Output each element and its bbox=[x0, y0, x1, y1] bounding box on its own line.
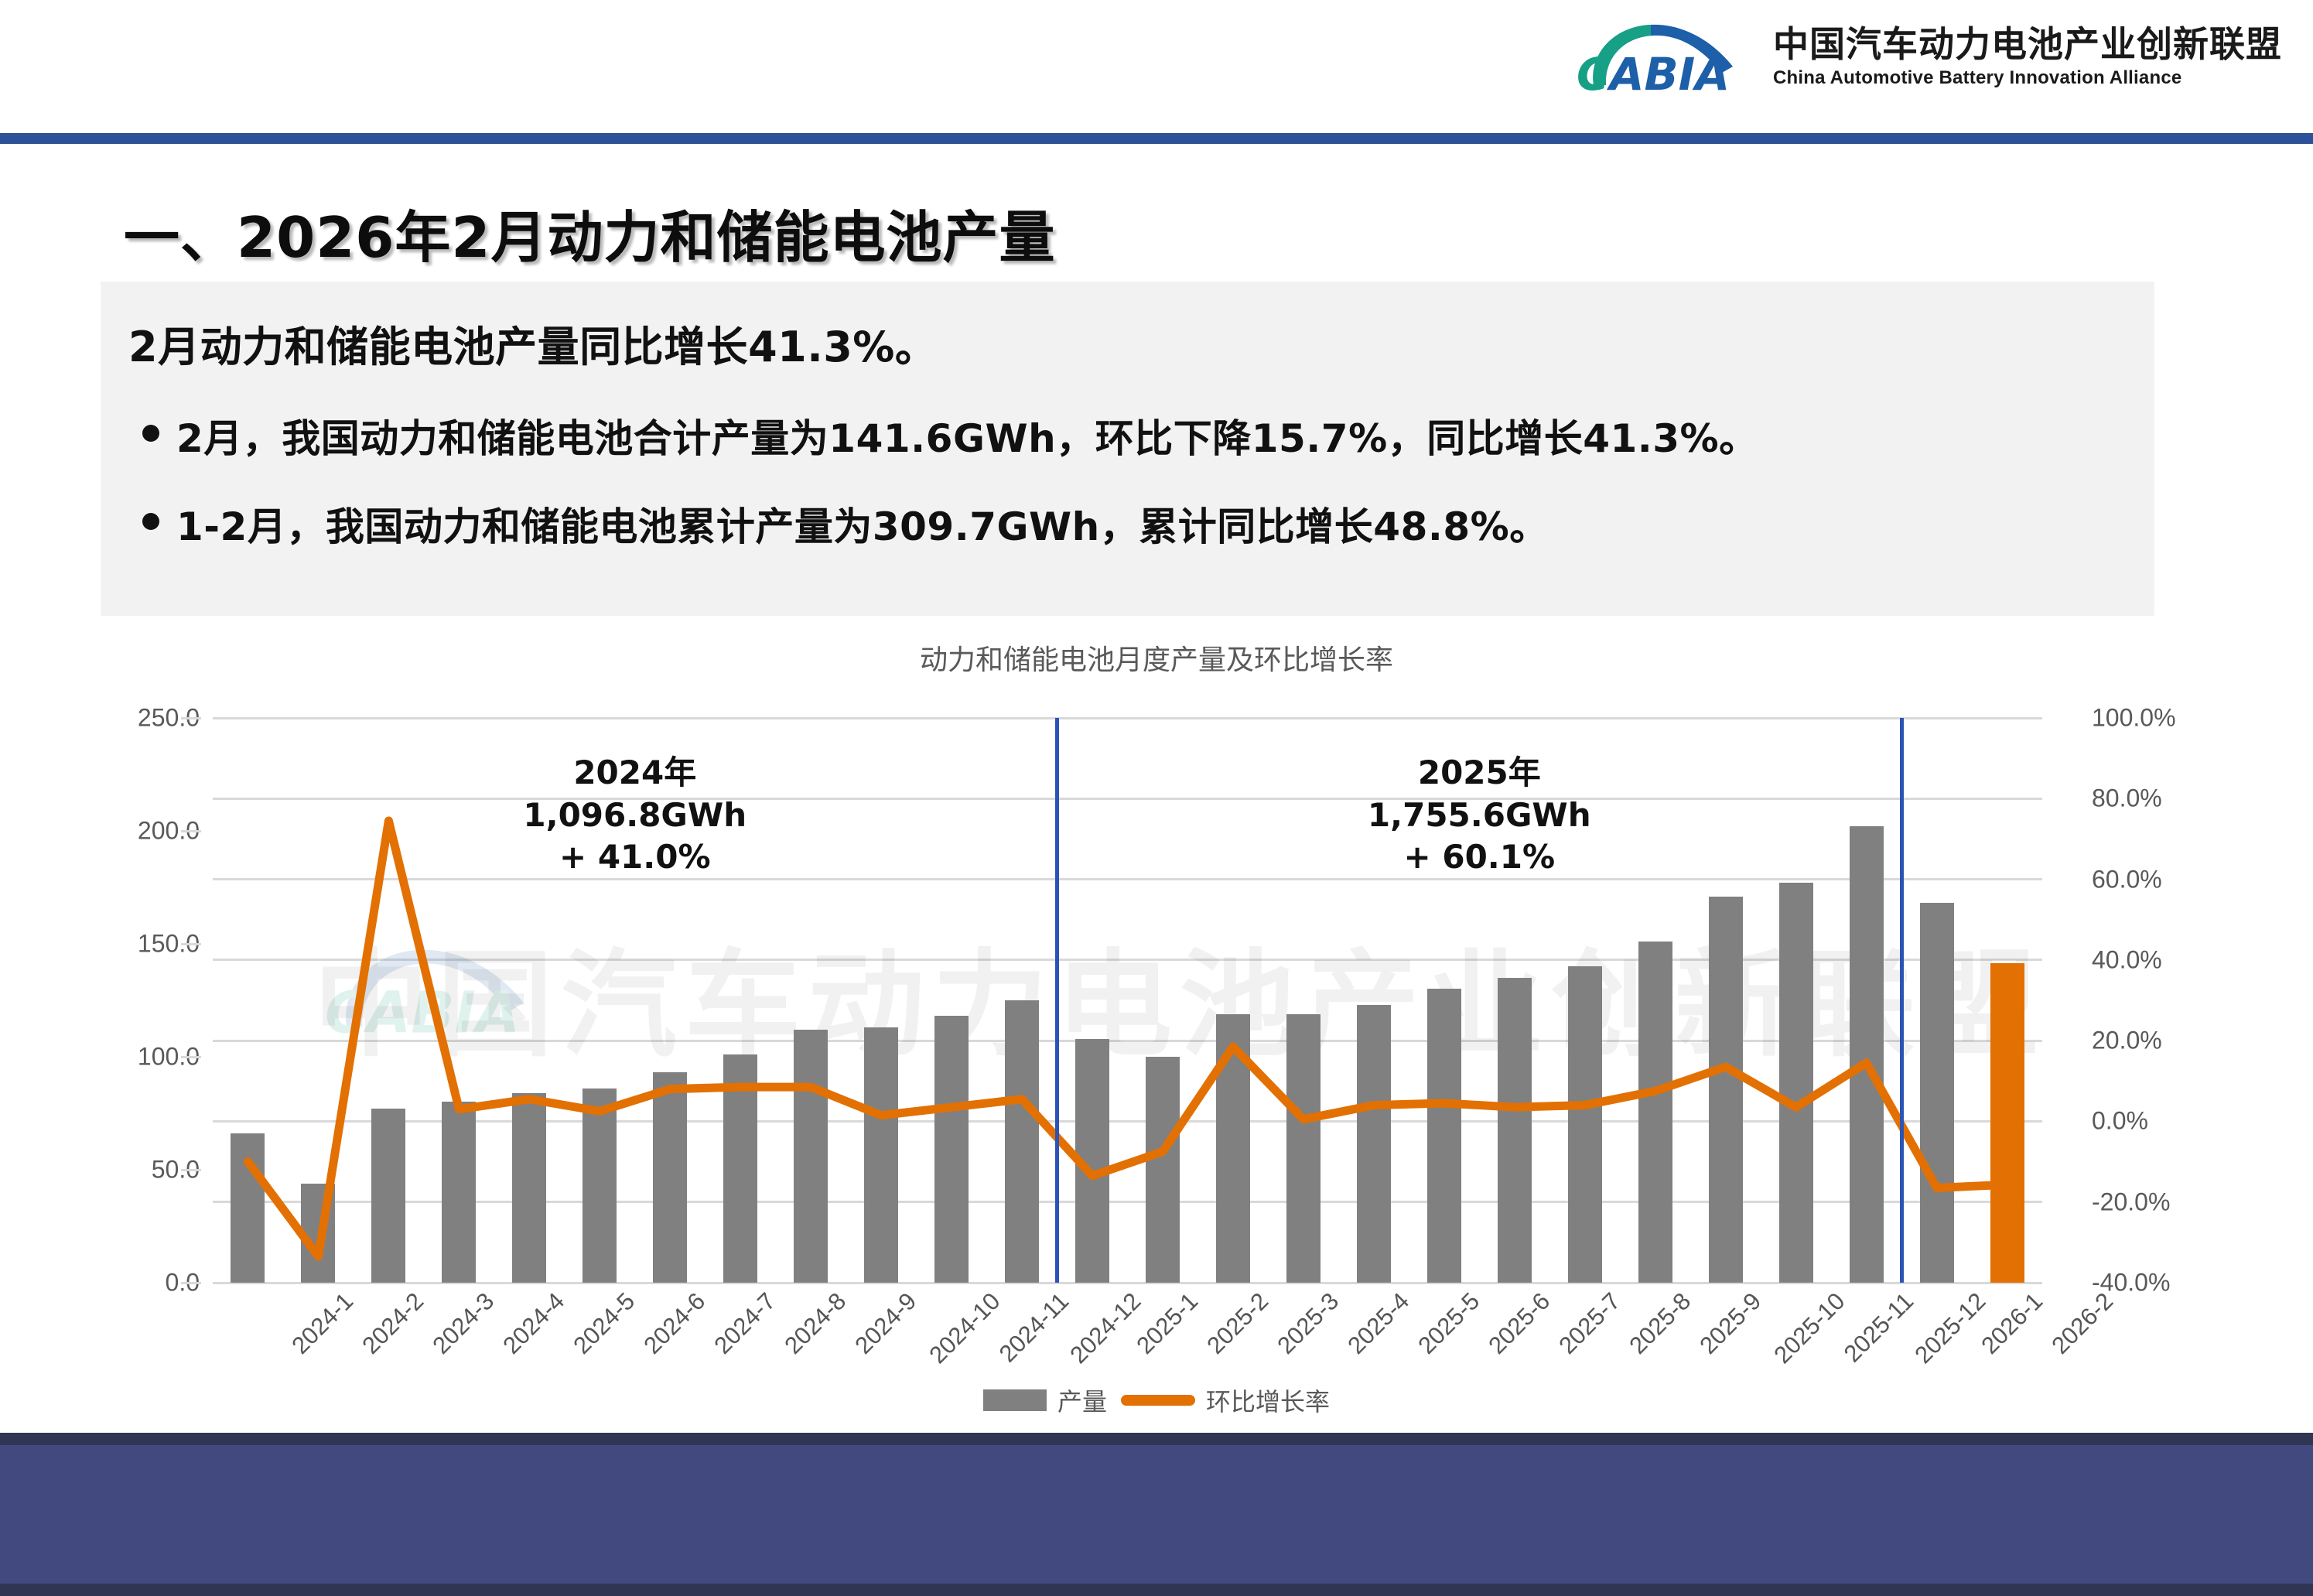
x-axis-label: 2025-9 bbox=[1694, 1287, 1767, 1360]
x-axis-label: 2024-3 bbox=[428, 1287, 501, 1360]
x-axis-label: 2025-2 bbox=[1201, 1287, 1274, 1360]
header-divider bbox=[0, 133, 2313, 144]
x-axis-label: 2025-3 bbox=[1272, 1287, 1344, 1360]
page-header: CABIA 中国汽车动力电池产业创新联盟 China Automotive Ba… bbox=[0, 0, 2313, 124]
plot-region: CABIA 中国汽车动力电池产业创新联盟 2024年1,096.8GWh+ 41… bbox=[213, 718, 2042, 1283]
summary-panel: 2月动力和储能电池产量同比增长41.3%。 2月，我国动力和储能电池合计产量为1… bbox=[101, 282, 2154, 616]
footer-stripe-bottom bbox=[0, 1584, 2313, 1596]
chart-container: 动力和储能电池月度产量及环比增长率 0.050.0100.0150.0200.0… bbox=[0, 628, 2313, 1433]
x-axis-label: 2024-6 bbox=[639, 1287, 712, 1360]
x-axis-label: 2024-10 bbox=[924, 1287, 1006, 1369]
bullet-dot-icon bbox=[142, 513, 159, 530]
x-axis-label: 2024-11 bbox=[994, 1287, 1075, 1368]
summary-bullet-list: 2月，我国动力和储能电池合计产量为141.6GWh，环比下降15.7%，同比增长… bbox=[128, 408, 2127, 552]
year-divider bbox=[1900, 718, 1904, 1283]
legend-item-production[interactable]: 产量 bbox=[983, 1382, 1107, 1418]
x-axis-label: 2026-2 bbox=[2046, 1287, 2119, 1360]
x-axis-label: 2024-12 bbox=[1064, 1287, 1146, 1369]
brand-name-en: China Automotive Battery Innovation Alli… bbox=[1773, 67, 2181, 89]
x-axis-label: 2025-1 bbox=[1131, 1287, 1204, 1360]
footer-stripe-top bbox=[0, 1433, 2313, 1445]
x-axis-label: 2024-8 bbox=[779, 1287, 852, 1360]
x-axis-label: 2025-10 bbox=[1768, 1287, 1850, 1369]
footer-band bbox=[0, 1445, 2313, 1584]
x-axis-label: 2025-7 bbox=[1553, 1287, 1626, 1360]
x-axis-label: 2025-6 bbox=[1483, 1287, 1556, 1360]
svg-text:CABIA: CABIA bbox=[1577, 48, 1730, 99]
y-axis-left-tickmark bbox=[181, 1282, 201, 1284]
y-axis-right-tick: 100.0% bbox=[2092, 704, 2176, 733]
y-axis-left-tickmark bbox=[181, 1056, 201, 1058]
annotation-growth: + 41.0% bbox=[403, 836, 867, 879]
growth-line bbox=[248, 821, 2007, 1256]
y-axis-left-tickmark bbox=[181, 830, 201, 832]
chart-legend: 产量 环比增长率 bbox=[0, 1382, 2313, 1418]
x-axis-label: 2025-12 bbox=[1909, 1287, 1991, 1369]
cabia-logo-icon: CABIA bbox=[1570, 14, 1753, 99]
y-axis-right: -40.0%-20.0%0.0%20.0%40.0%60.0%80.0%100.… bbox=[2064, 718, 2265, 1283]
x-axis-label: 2024-2 bbox=[357, 1287, 430, 1360]
brand-name: 中国汽车动力电池产业创新联盟 China Automotive Battery … bbox=[1773, 24, 2282, 90]
bullet-text: 2月，我国动力和储能电池合计产量为141.6GWh，环比下降15.7%，同比增长… bbox=[176, 408, 1758, 463]
y-axis-right-tick: 80.0% bbox=[2092, 784, 2162, 813]
x-axis-label: 2024-4 bbox=[498, 1287, 571, 1360]
annotation-total: 1,096.8GWh bbox=[403, 795, 867, 837]
year-annotation: 2024年1,096.8GWh+ 41.0% bbox=[403, 752, 867, 879]
year-annotation: 2025年1,755.6GWh+ 60.1% bbox=[1247, 752, 1711, 879]
annotation-year: 2024年 bbox=[403, 752, 867, 795]
x-axis-label: 2024-9 bbox=[849, 1287, 922, 1360]
x-axis-label: 2026-1 bbox=[1976, 1287, 2048, 1360]
legend-line-swatch bbox=[1121, 1395, 1195, 1406]
annotation-growth: + 60.1% bbox=[1247, 836, 1711, 879]
legend-bar-label: 产量 bbox=[1057, 1382, 1107, 1418]
y-axis-right-tick: 40.0% bbox=[2092, 945, 2162, 974]
y-axis-left-tickmark bbox=[181, 943, 201, 945]
list-item: 2月，我国动力和储能电池合计产量为141.6GWh，环比下降15.7%，同比增长… bbox=[128, 408, 2127, 463]
year-divider bbox=[1055, 718, 1059, 1283]
y-axis-left: 0.050.0100.0150.0200.0250.0 bbox=[85, 718, 201, 1283]
bullet-text: 1-2月，我国动力和储能电池累计产量为309.7GWh，累计同比增长48.8%。 bbox=[176, 496, 1549, 552]
x-axis-label: 2024-5 bbox=[569, 1287, 641, 1360]
slide-page: CABIA 中国汽车动力电池产业创新联盟 China Automotive Ba… bbox=[0, 0, 2313, 1596]
x-axis-label: 2025-11 bbox=[1838, 1287, 1918, 1368]
x-axis-label: 2024-1 bbox=[287, 1287, 360, 1360]
page-title: 一、2026年2月动力和储能电池产量 bbox=[124, 192, 1056, 273]
brand-logo: CABIA 中国汽车动力电池产业创新联盟 China Automotive Ba… bbox=[1570, 14, 2282, 99]
x-axis-label: 2025-5 bbox=[1413, 1287, 1485, 1360]
brand-name-cn: 中国汽车动力电池产业创新联盟 bbox=[1773, 24, 2282, 65]
y-axis-right-tick: -20.0% bbox=[2092, 1188, 2170, 1216]
annotation-total: 1,755.6GWh bbox=[1247, 795, 1711, 837]
list-item: 1-2月，我国动力和储能电池累计产量为309.7GWh，累计同比增长48.8%。 bbox=[128, 496, 2127, 552]
y-axis-right-tick: 20.0% bbox=[2092, 1027, 2162, 1055]
summary-heading: 2月动力和储能电池产量同比增长41.3%。 bbox=[128, 313, 2127, 374]
y-axis-left-tickmark bbox=[181, 1169, 201, 1171]
y-axis-left-tickmark bbox=[181, 717, 201, 719]
x-axis-label: 2024-7 bbox=[709, 1287, 782, 1360]
y-axis-right-tick: 60.0% bbox=[2092, 865, 2162, 894]
legend-line-label: 环比增长率 bbox=[1206, 1382, 1330, 1418]
bullet-dot-icon bbox=[142, 425, 159, 442]
x-axis-label: 2025-8 bbox=[1624, 1287, 1696, 1360]
chart-title: 动力和储能电池月度产量及环比增长率 bbox=[0, 637, 2313, 678]
y-axis-right-tick: 0.0% bbox=[2092, 1107, 2148, 1136]
legend-item-growth[interactable]: 环比增长率 bbox=[1121, 1382, 1330, 1418]
legend-bar-swatch bbox=[983, 1389, 1047, 1411]
annotation-year: 2025年 bbox=[1247, 752, 1711, 795]
x-axis-label: 2025-4 bbox=[1342, 1287, 1415, 1360]
